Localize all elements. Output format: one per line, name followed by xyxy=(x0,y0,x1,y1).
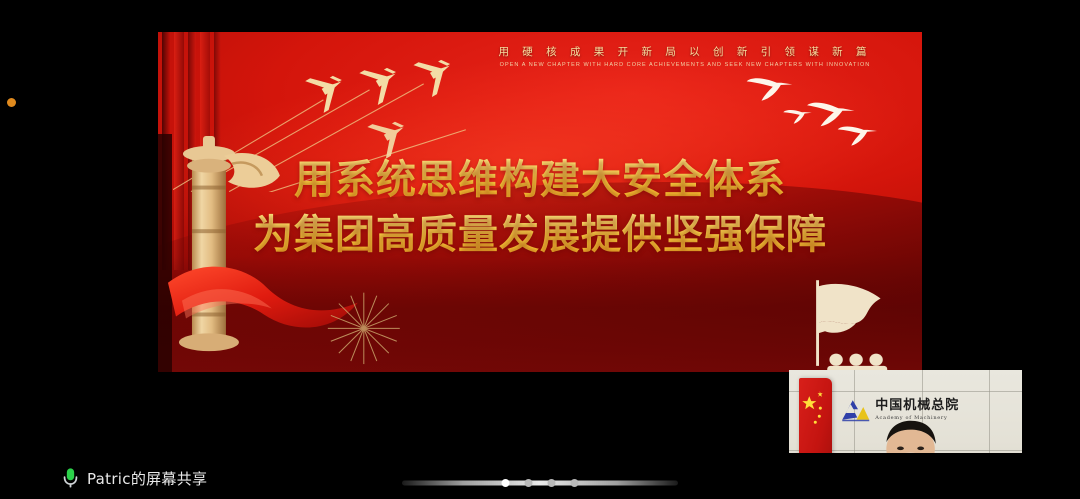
flag-with-crowd-decoration xyxy=(785,270,907,372)
page-dot[interactable] xyxy=(548,479,556,487)
microphone-icon xyxy=(62,467,79,489)
page-dot[interactable] xyxy=(502,479,510,487)
orange-status-dot xyxy=(7,98,16,107)
screen-share-indicator[interactable]: Patric的屏幕共享 xyxy=(62,467,207,489)
page-indicator-dots xyxy=(502,479,579,487)
huabiao-column-decoration xyxy=(158,134,418,372)
bottom-bar: Patric的屏幕共享 xyxy=(0,453,1080,499)
doves-icon xyxy=(746,69,914,157)
shared-slide[interactable]: 用 硬 核 成 果 开 新 局 以 创 新 引 领 谋 新 篇 OPEN A N… xyxy=(158,32,922,372)
meeting-screen-share-view: 用 硬 核 成 果 开 新 局 以 创 新 引 领 谋 新 篇 OPEN A N… xyxy=(0,0,1080,499)
page-dot[interactable] xyxy=(571,479,579,487)
brand-name-cn: 中国机械总院 xyxy=(875,399,959,412)
screen-share-label: Patric的屏幕共享 xyxy=(87,468,207,489)
page-dot[interactable] xyxy=(525,479,533,487)
page-indicator[interactable] xyxy=(402,478,678,487)
